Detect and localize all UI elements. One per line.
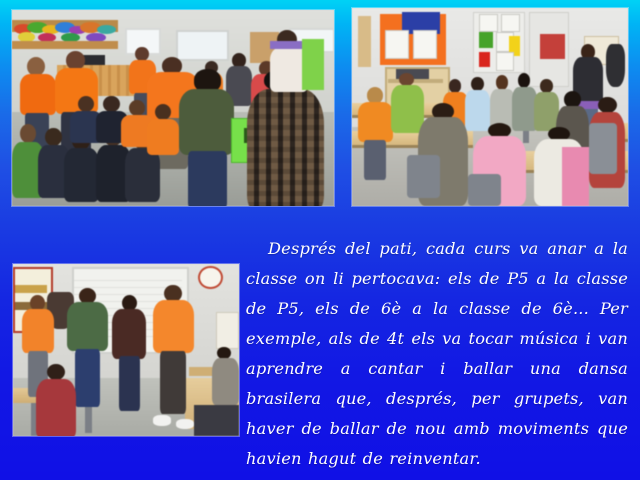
photo-top-left[interactable] <box>12 10 334 206</box>
slide-caption-text: Després del pati, cada curs va anar a la… <box>246 234 628 474</box>
slide-canvas: Després del pati, cada curs va anar a la… <box>0 0 640 480</box>
photo-bottom-left[interactable] <box>13 264 239 436</box>
photo-top-left-scene <box>12 10 334 206</box>
photo-bottom-left-scene <box>13 264 239 436</box>
photo-top-right-scene <box>352 8 628 206</box>
photo-top-right[interactable] <box>352 8 628 206</box>
